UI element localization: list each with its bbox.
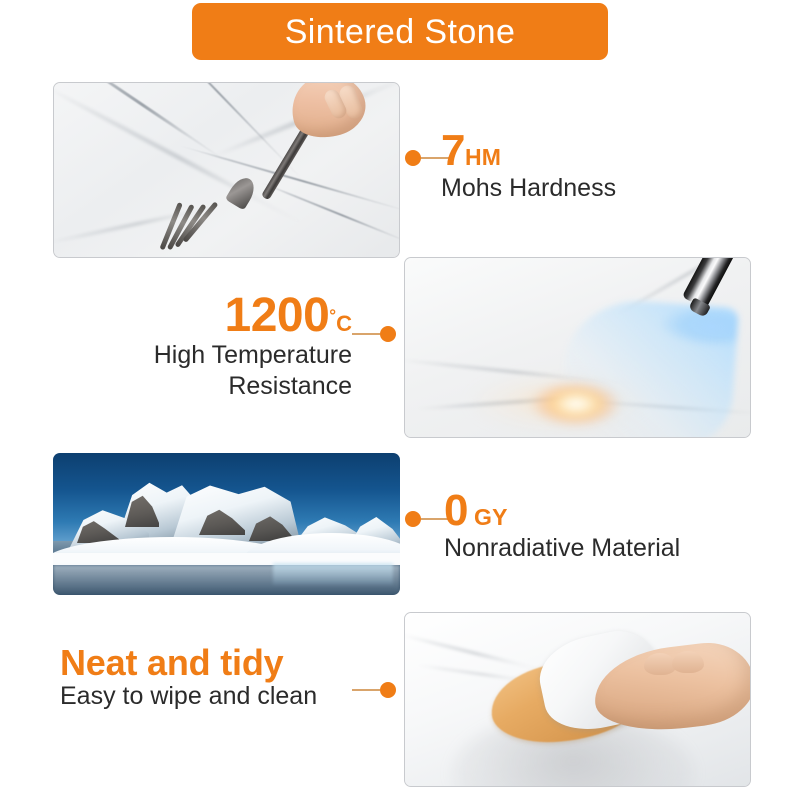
stat-unit: C (336, 311, 352, 336)
stat-unit: GY (474, 504, 508, 530)
stat-headline-mohs-hardness: 7HM (441, 129, 616, 173)
stat-value: 0 (444, 486, 468, 535)
stat-caption-high-temperature-line2: Resistance (100, 371, 352, 402)
stat-unit: HM (465, 144, 501, 170)
stat-value: 1200 (225, 289, 330, 342)
image-panel-nonradiative (53, 453, 400, 595)
connector-neat-and-tidy (352, 681, 396, 699)
stat-block-mohs-hardness: 7HM Mohs Hardness (441, 129, 616, 204)
stat-block-nonradiative: 0GY Nonradiative Material (444, 489, 680, 564)
page-title: Sintered Stone (285, 15, 516, 49)
wipe-clean-photo (405, 613, 750, 786)
stat-headline-neat-and-tidy: Neat and tidy (60, 645, 352, 681)
stat-caption-mohs-hardness: Mohs Hardness (441, 173, 616, 204)
connector-dot (380, 682, 396, 698)
stat-caption-high-temperature-line1: High Temperature (100, 340, 352, 371)
knuckle (672, 651, 704, 673)
connector-dot (405, 150, 421, 166)
blowtorch-photo (405, 258, 750, 437)
stat-value: 7 (441, 126, 465, 175)
connector-dot (380, 326, 396, 342)
stat-caption-neat-and-tidy: Easy to wipe and clean (60, 681, 352, 712)
image-panel-mohs-hardness (53, 82, 400, 258)
image-panel-neat-and-tidy (404, 612, 751, 787)
connector-line (352, 689, 380, 691)
header-banner: Sintered Stone (192, 3, 608, 60)
marble-fork-photo (54, 83, 399, 257)
glacier-mountains-photo (53, 453, 400, 595)
connector-dot (405, 511, 421, 527)
image-panel-high-temperature (404, 257, 751, 438)
connector-high-temperature (352, 325, 396, 343)
stat-caption-nonradiative: Nonradiative Material (444, 533, 680, 564)
connector-line (352, 333, 380, 335)
iceberg-reflection (273, 563, 393, 585)
hot-spot-glow (501, 354, 651, 437)
connector-nonradiative (405, 510, 449, 528)
stat-headline-high-temperature: 1200°C (100, 292, 352, 340)
stat-block-high-temperature: 1200°C High Temperature Resistance (100, 292, 352, 401)
stat-block-neat-and-tidy: Neat and tidy Easy to wipe and clean (60, 645, 352, 712)
stat-headline-nonradiative: 0GY (444, 489, 680, 533)
